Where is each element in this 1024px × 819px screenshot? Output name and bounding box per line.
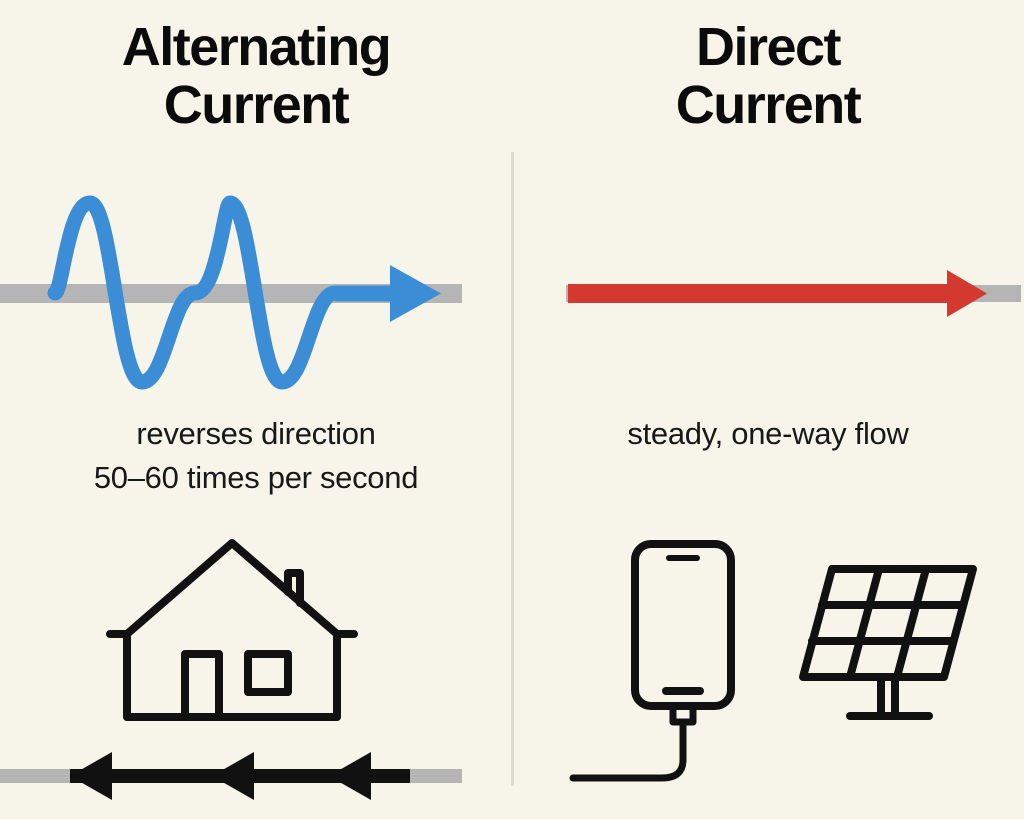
panel-direct-current: Direct Current steady, one-way flow — [512, 0, 1024, 819]
caption-line-2: 50–60 times per second — [0, 456, 512, 500]
caption-direct-current: steady, one-way flow — [512, 412, 1024, 456]
infographic-root: Alternating Current reverses direction 5… — [0, 0, 1024, 819]
title-line-2: Current — [0, 76, 512, 134]
title-line-1: Direct — [512, 18, 1024, 76]
panel-alternating-current: Alternating Current reverses direction 5… — [0, 0, 512, 819]
page-title-alternating-current: Alternating Current — [0, 18, 512, 134]
title-line-2: Current — [512, 76, 1024, 134]
caption-line-1: reverses direction — [0, 412, 512, 456]
page-title-direct-current: Direct Current — [512, 18, 1024, 134]
caption-line-1: steady, one-way flow — [512, 412, 1024, 456]
title-line-1: Alternating — [0, 18, 512, 76]
caption-alternating-current: reverses direction 50–60 times per secon… — [0, 412, 512, 500]
